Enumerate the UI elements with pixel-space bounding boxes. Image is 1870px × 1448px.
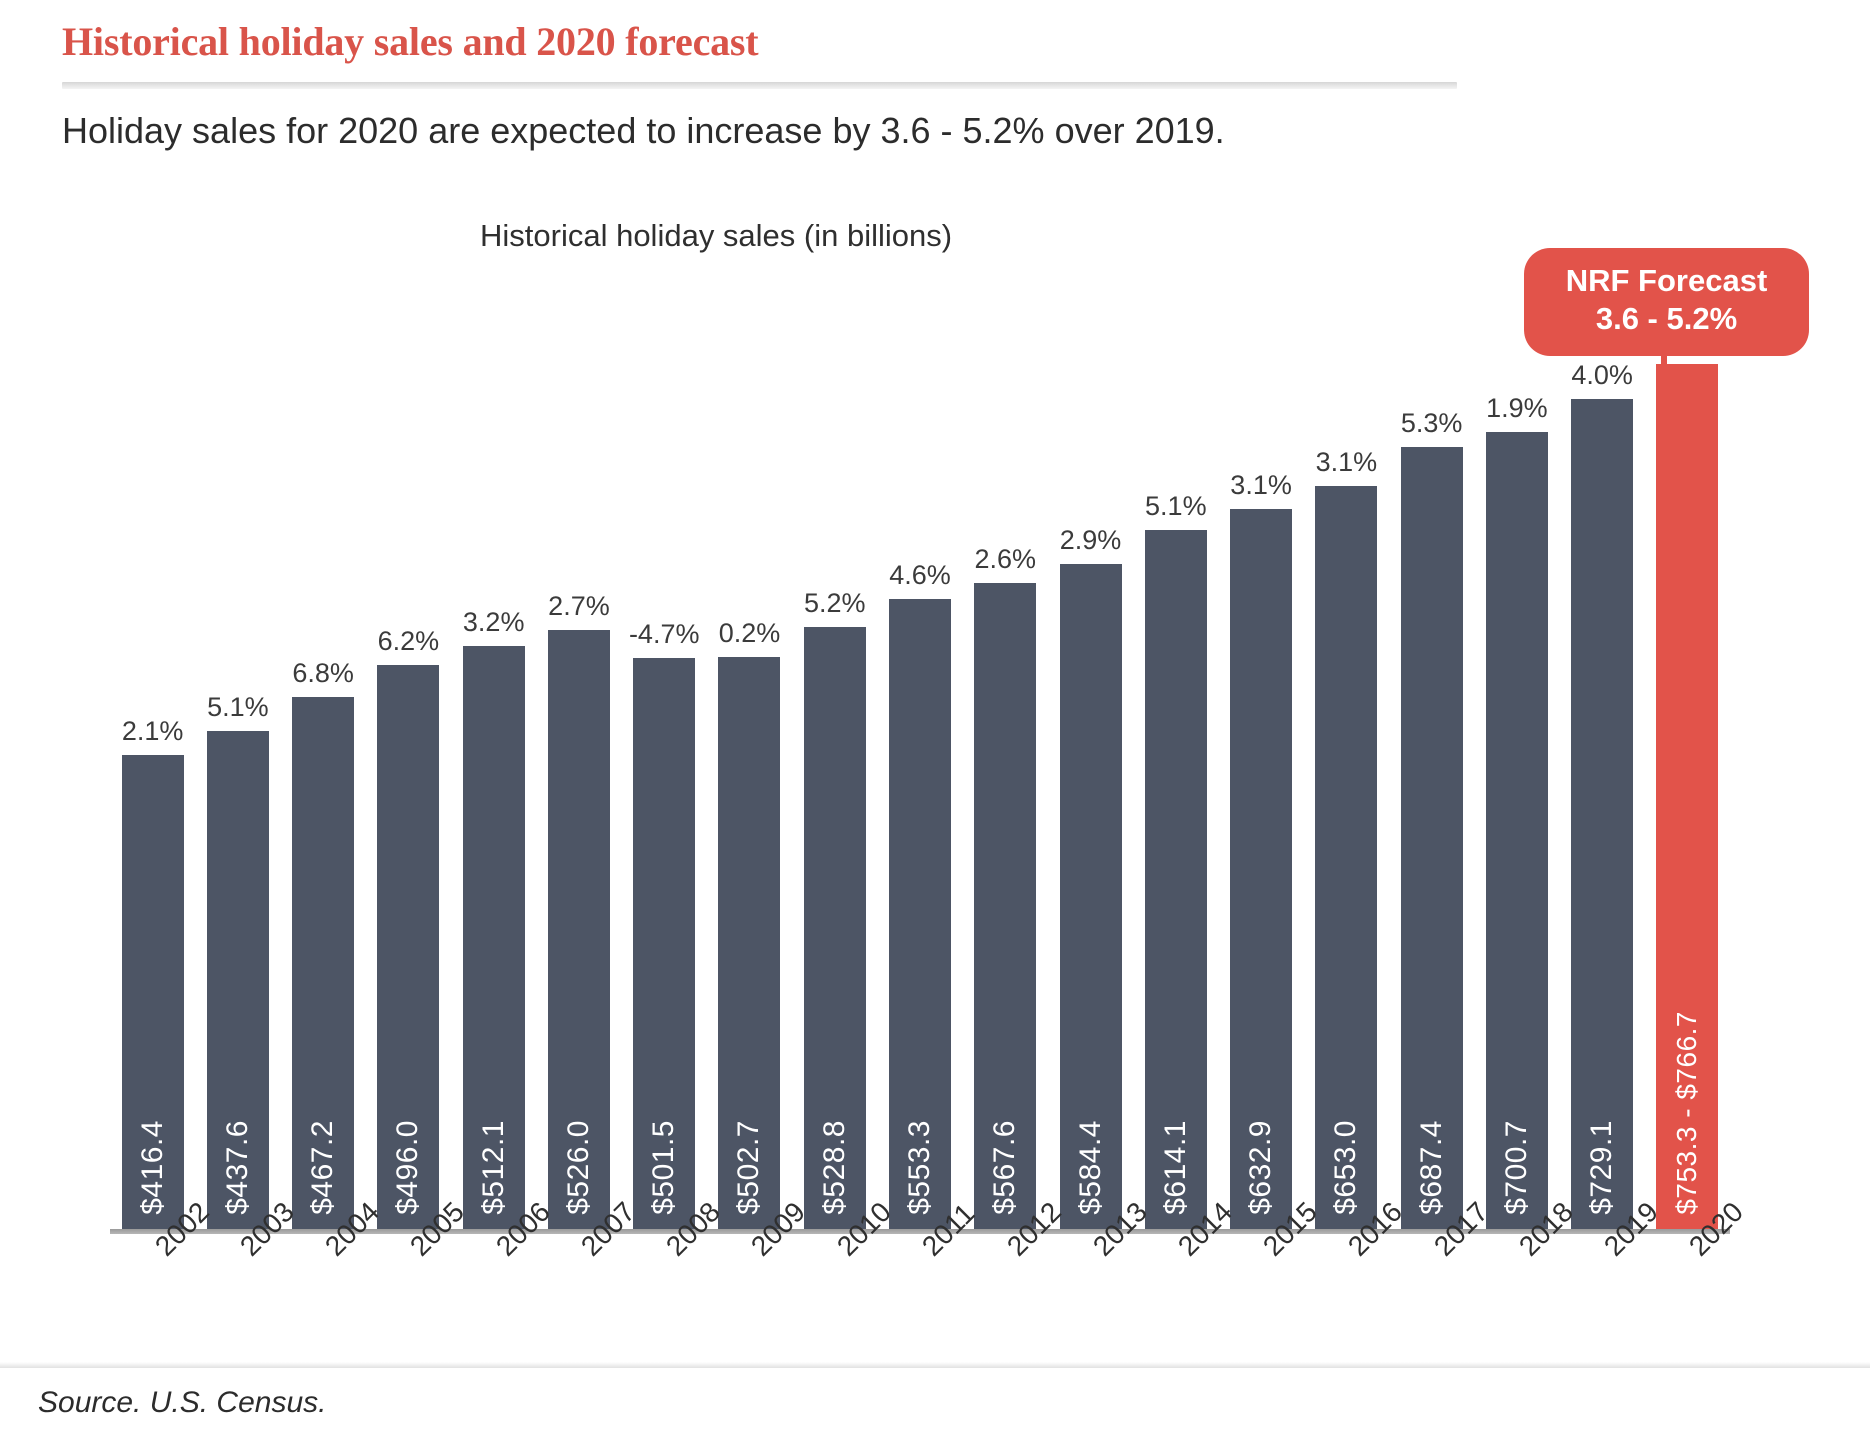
bar-growth-label: 2.6% xyxy=(975,546,1037,573)
bar[interactable]: $437.6 xyxy=(207,731,269,1229)
x-axis-tick: 2007 xyxy=(536,1240,621,1350)
x-axis-tick: 2018 xyxy=(1474,1240,1559,1350)
footer-divider xyxy=(0,1362,1870,1368)
bar[interactable]: $687.4 xyxy=(1401,447,1463,1229)
bar-value-label: $753.3 - $766.7 xyxy=(1673,1011,1701,1215)
x-axis-tick: 2014 xyxy=(1133,1240,1218,1350)
x-axis-tick: 2011 xyxy=(877,1240,962,1350)
x-axis-tick: 2008 xyxy=(622,1240,707,1350)
bar[interactable]: $584.4 xyxy=(1060,564,1122,1229)
bar[interactable]: $614.1 xyxy=(1145,530,1207,1229)
bar-value-label: $584.4 xyxy=(1076,1120,1106,1215)
x-axis-tick: 2015 xyxy=(1218,1240,1303,1350)
x-axis-tick: 2003 xyxy=(195,1240,280,1350)
bar-slot: $753.3 - $766.7 xyxy=(1645,330,1730,1229)
bar-slot: 2.6%$567.6 xyxy=(963,330,1048,1229)
bar-growth-label: 5.1% xyxy=(1145,493,1207,520)
bar[interactable]: $467.2 xyxy=(292,697,354,1229)
bar-growth-label: 3.1% xyxy=(1230,472,1292,499)
bar[interactable]: $632.9 xyxy=(1230,509,1292,1229)
chart-title: Historical holiday sales (in billions) xyxy=(480,218,952,254)
bar-slot: 4.6%$553.3 xyxy=(877,330,962,1229)
bar-chart-plot: 2.1%$416.45.1%$437.66.8%$467.26.2%$496.0… xyxy=(110,330,1750,1234)
bar-growth-label: 1.9% xyxy=(1486,395,1548,422)
bar-growth-label: 2.9% xyxy=(1060,527,1122,554)
x-axis-tick: 2016 xyxy=(1304,1240,1389,1350)
bar-growth-label: 6.8% xyxy=(292,660,354,687)
bar[interactable]: $526.0 xyxy=(548,630,610,1229)
bar-slot: 5.1%$614.1 xyxy=(1133,330,1218,1229)
bar-value-label: $614.1 xyxy=(1161,1120,1191,1215)
source-note: Source. U.S. Census. xyxy=(38,1386,326,1420)
bar-growth-label: 2.7% xyxy=(548,593,610,620)
x-axis-tick: 2006 xyxy=(451,1240,536,1350)
bar[interactable]: $496.0 xyxy=(377,665,439,1229)
bar-value-label: $526.0 xyxy=(564,1120,594,1215)
bar-slot: -4.7%$501.5 xyxy=(622,330,707,1229)
bar-slot: 2.7%$526.0 xyxy=(536,330,621,1229)
bar-value-label: $553.3 xyxy=(905,1120,935,1215)
bar-value-label: $501.5 xyxy=(649,1120,679,1215)
bar-slot: 2.1%$416.4 xyxy=(110,330,195,1229)
x-axis-tick: 2009 xyxy=(707,1240,792,1350)
x-axis-tick: 2020 xyxy=(1645,1240,1730,1350)
bar-value-label: $496.0 xyxy=(393,1120,423,1215)
bar-slot: 3.2%$512.1 xyxy=(451,330,536,1229)
bar-value-label: $632.9 xyxy=(1246,1120,1276,1215)
bar-slot: 5.2%$528.8 xyxy=(792,330,877,1229)
bar-growth-label: -4.7% xyxy=(629,621,700,648)
bar-slot: 0.2%$502.7 xyxy=(707,330,792,1229)
page-subtitle: Holiday sales for 2020 are expected to i… xyxy=(62,110,1225,152)
chart-page: Historical holiday sales and 2020 foreca… xyxy=(0,0,1870,1448)
bar-series: 2.1%$416.45.1%$437.66.8%$467.26.2%$496.0… xyxy=(110,330,1730,1229)
bar-slot: 5.1%$437.6 xyxy=(195,330,280,1229)
bar[interactable]: $528.8 xyxy=(804,627,866,1229)
bar-value-label: $528.8 xyxy=(820,1120,850,1215)
bar-slot: 6.8%$467.2 xyxy=(281,330,366,1229)
x-axis-tick: 2012 xyxy=(963,1240,1048,1350)
bar-value-label: $512.1 xyxy=(479,1120,509,1215)
page-title: Historical holiday sales and 2020 foreca… xyxy=(62,18,758,65)
bar[interactable]: $501.5 xyxy=(633,658,695,1229)
bar-slot: 3.1%$632.9 xyxy=(1218,330,1303,1229)
bar[interactable]: $700.7 xyxy=(1486,432,1548,1229)
forecast-bar[interactable]: $753.3 - $766.7 xyxy=(1656,364,1718,1229)
bar-value-label: $567.6 xyxy=(990,1120,1020,1215)
bar-growth-label: 0.2% xyxy=(719,620,781,647)
bar-growth-label: 4.0% xyxy=(1571,362,1633,389)
bar-growth-label: 2.1% xyxy=(122,718,184,745)
bar-growth-label: 6.2% xyxy=(378,628,440,655)
x-axis-tick: 2017 xyxy=(1389,1240,1474,1350)
x-axis-tick: 2013 xyxy=(1048,1240,1133,1350)
x-axis-tick: 2004 xyxy=(281,1240,366,1350)
bar-value-label: $437.6 xyxy=(223,1120,253,1215)
x-axis-tick: 2005 xyxy=(366,1240,451,1350)
bar-growth-label: 3.1% xyxy=(1316,449,1378,476)
bar-slot: 1.9%$700.7 xyxy=(1474,330,1559,1229)
bar[interactable]: $502.7 xyxy=(718,657,780,1229)
x-axis-tick: 2002 xyxy=(110,1240,195,1350)
bar-slot: 2.9%$584.4 xyxy=(1048,330,1133,1229)
bar[interactable]: $567.6 xyxy=(974,583,1036,1229)
bar-growth-label: 3.2% xyxy=(463,609,525,636)
bar-slot: 4.0%$729.1 xyxy=(1560,330,1645,1229)
bar-value-label: $416.4 xyxy=(138,1120,168,1215)
x-axis-tick: 2010 xyxy=(792,1240,877,1350)
bar[interactable]: $729.1 xyxy=(1571,399,1633,1229)
bar-slot: 6.2%$496.0 xyxy=(366,330,451,1229)
bar-value-label: $700.7 xyxy=(1502,1120,1532,1215)
bar[interactable]: $553.3 xyxy=(889,599,951,1229)
bar-value-label: $653.0 xyxy=(1331,1120,1361,1215)
bar-growth-label: 4.6% xyxy=(889,562,951,589)
bar-slot: 5.3%$687.4 xyxy=(1389,330,1474,1229)
bar[interactable]: $653.0 xyxy=(1315,486,1377,1229)
header-divider xyxy=(62,82,1457,89)
badge-line-1: NRF Forecast xyxy=(1566,263,1768,298)
bar-growth-label: 5.2% xyxy=(804,590,866,617)
x-axis-labels: 2002200320042005200620072008200920102011… xyxy=(110,1240,1730,1350)
bar-value-label: $502.7 xyxy=(734,1120,764,1215)
bar-value-label: $687.4 xyxy=(1417,1120,1447,1215)
bar[interactable]: $512.1 xyxy=(463,646,525,1229)
x-axis-tick: 2019 xyxy=(1560,1240,1645,1350)
bar-growth-label: 5.3% xyxy=(1401,410,1463,437)
bar-slot: 3.1%$653.0 xyxy=(1304,330,1389,1229)
bar-value-label: $729.1 xyxy=(1587,1120,1617,1215)
bar-growth-label: 5.1% xyxy=(207,694,269,721)
bar[interactable]: $416.4 xyxy=(122,755,184,1229)
bar-value-label: $467.2 xyxy=(308,1120,338,1215)
